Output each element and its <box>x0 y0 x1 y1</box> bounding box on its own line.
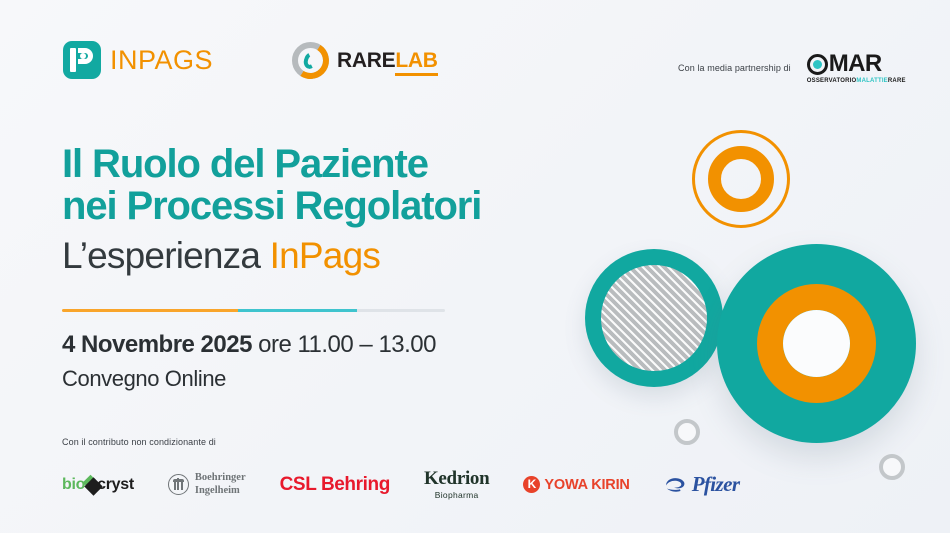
sponsor-logo-csl-behring: CSL Behring <box>280 474 390 496</box>
media-partnership-label: Con la media partnership di <box>678 63 791 73</box>
event-mode: Convegno Online <box>62 366 436 392</box>
omar-eye-icon <box>807 54 828 75</box>
omar-tagline-part2: MALATTIE <box>856 78 887 84</box>
pfizer-swirl-icon <box>664 475 688 494</box>
white-core-decoration <box>783 310 850 377</box>
sponsor-logo-kedrion: Kedrion Biopharma <box>424 469 489 500</box>
event-banner: INPAGS RARELAB Con la media partnership … <box>0 0 950 533</box>
hatched-disc-decoration <box>601 265 707 371</box>
rarelab-ring-icon <box>292 42 329 79</box>
sponsors-section: Con il contributo non condizionante di b… <box>62 437 702 500</box>
title-subtitle: L’esperienza InPags <box>62 234 562 278</box>
sponsors-label: Con il contributo non condizionante di <box>62 437 702 447</box>
kyowa-kirin-wordmark: YOWA KIRIN <box>544 477 629 493</box>
divider-segment-teal <box>238 309 357 312</box>
orange-inner-ring-decoration <box>708 146 774 212</box>
subtitle-text: L’esperienza <box>62 235 270 276</box>
teal-ring-decoration <box>585 249 723 387</box>
biocryst-word-part1: bio <box>62 476 85 494</box>
boehringer-seal-icon <box>168 474 189 495</box>
omar-tagline: OSSERVATORIOMALATTIERARE <box>807 78 906 84</box>
media-partnership-block: Con la media partnership di MAR OSSERVAT… <box>678 52 906 84</box>
divider-segment-orange <box>62 309 238 312</box>
sponsor-logo-boehringer-ingelheim: Boehringer Ingelheim <box>168 472 246 497</box>
boehringer-line-1: Boehringer <box>195 472 246 484</box>
boehringer-line-2: Ingelheim <box>195 485 246 497</box>
kyowa-badge-letter: K <box>523 476 540 493</box>
title-line-2: nei Processi Regolatori <box>62 185 562 227</box>
rarelab-logo: RARELAB <box>292 42 438 79</box>
omar-tagline-part1: OSSERVATORIO <box>807 78 857 84</box>
rarelab-word-secondary: LAB <box>395 49 437 76</box>
omar-wordmark: MAR <box>807 52 906 76</box>
omar-logo: MAR OSSERVATORIOMALATTIERARE <box>807 52 906 84</box>
page-title: Il Ruolo del Paziente nei Processi Regol… <box>62 143 562 278</box>
title-line-1: Il Ruolo del Paziente <box>62 143 562 185</box>
event-details: 4 Novembre 2025 ore 11.00 – 13.00 Conveg… <box>62 330 436 392</box>
kedrion-wordmark: Kedrion <box>424 469 489 488</box>
inpags-wordmark: INPAGS <box>110 45 213 76</box>
rarelab-wordmark: RARELAB <box>337 49 438 73</box>
boehringer-wordmark: Boehringer Ingelheim <box>195 472 246 497</box>
teal-disc-decoration <box>717 244 916 443</box>
event-time: ore 11.00 – 13.00 <box>252 331 436 358</box>
event-date: 4 Novembre 2025 <box>62 331 252 358</box>
omar-wordmark-text: MAR <box>829 52 882 76</box>
inpags-mark-icon <box>63 41 101 79</box>
sponsor-logo-pfizer: Pfizer <box>664 472 740 497</box>
subtitle-highlight: InPags <box>270 235 380 276</box>
banner-header: INPAGS RARELAB Con la media partnership … <box>0 0 950 110</box>
sponsor-logo-row: biocryst Boehringer Ingelheim CSL Behrin… <box>62 469 702 500</box>
sponsor-logo-biocryst: biocryst <box>62 476 134 494</box>
sponsor-logo-kyowa-kirin: K YOWA KIRIN <box>523 476 629 493</box>
tricolor-divider <box>62 309 445 312</box>
pfizer-wordmark: Pfizer <box>692 472 740 497</box>
kyowa-kirin-badge-icon: K <box>523 476 540 493</box>
event-date-line: 4 Novembre 2025 ore 11.00 – 13.00 <box>62 330 436 360</box>
biocryst-word-part2: cryst <box>97 476 134 494</box>
divider-segment-gray <box>357 309 445 312</box>
omar-tagline-part3: RARE <box>888 78 906 84</box>
rarelab-word-primary: RARE <box>337 49 395 72</box>
inpags-logo: INPAGS <box>63 41 213 79</box>
small-circle-decoration <box>879 454 905 480</box>
kedrion-subtitle: Biopharma <box>435 490 479 500</box>
